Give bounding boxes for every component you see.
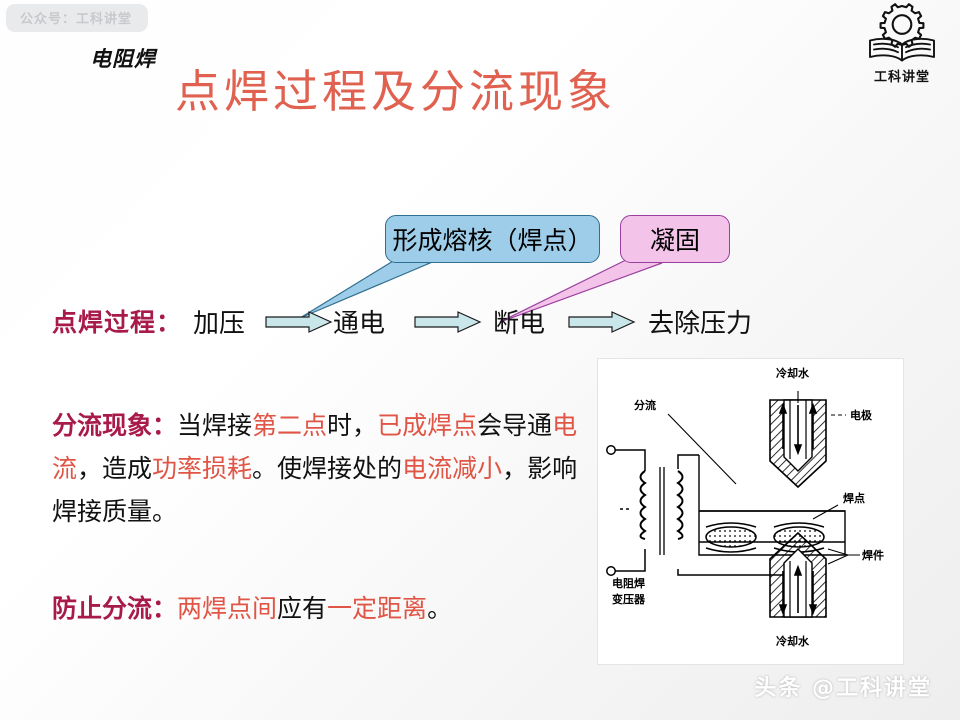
brand-logo-text: 工科讲堂 [874, 66, 930, 85]
flow-arrow-icon [265, 311, 333, 333]
callout-form-nugget: 形成熔核（焊点） [385, 215, 600, 263]
flow-arrow-icon [414, 311, 482, 333]
brand-logo: 工科讲堂 [856, 2, 948, 94]
paragraph-prevent-body: 两焊点间应有一定距离。 [177, 596, 452, 623]
text-run: 应有 [277, 596, 327, 623]
diagram-label-workpiece: 焊件 [862, 548, 884, 562]
slide-canvas: 公众号：工科讲堂 电阻焊 点焊过程及分流现象 工科讲堂 形成熔核（焊点） [0, 0, 960, 720]
process-step-release-pressure: 去除压力 [648, 303, 752, 340]
text-run: 第二点 [252, 413, 327, 440]
diagram-label-transformer-1: 电阻焊 [612, 576, 645, 590]
callout-nugget-label: 形成熔核（焊点） [392, 221, 592, 257]
text-run: 已成焊点 [377, 413, 477, 440]
watermark: 头条 @工科讲堂 [754, 670, 932, 702]
text-run: 电流减小 [402, 456, 502, 483]
process-step-apply-pressure: 加压 [193, 303, 245, 340]
welding-schematic-diagram: 冷却水 分流 电极 焊点 焊件 电阻焊 变压器 冷却水 [598, 359, 901, 662]
paragraph-prevent-shunt: 防止分流：两焊点间应有一定距离。 [52, 588, 552, 631]
text-run: 时， [327, 413, 377, 440]
process-step-power-off: 断电 [493, 303, 545, 340]
text-run: 会导通 [477, 413, 552, 440]
text-run: ，造成 [77, 456, 152, 483]
flow-arrow-icon [568, 311, 636, 333]
callout-solidify-label: 凝固 [650, 221, 700, 257]
text-run: 当焊接 [177, 413, 252, 440]
diagram-label-weld-spot: 焊点 [843, 491, 865, 505]
callout-solidify: 凝固 [620, 215, 730, 263]
paragraph-prevent-lead: 防止分流： [52, 596, 177, 623]
text-run: 。 [427, 596, 452, 623]
diagram-label-coolant-bottom: 冷却水 [776, 634, 810, 648]
page-title: 点焊过程及分流现象 [175, 55, 616, 120]
process-row-label: 点焊过程： [52, 303, 182, 339]
paragraph-shunt-lead: 分流现象： [52, 413, 177, 440]
text-run: 功率损耗 [152, 456, 252, 483]
process-step-power-on: 通电 [333, 303, 385, 340]
welding-schematic-panel: 冷却水 分流 电极 焊点 焊件 电阻焊 变压器 冷却水 [597, 358, 904, 665]
diagram-label-electrode: 电极 [850, 408, 873, 422]
gear-book-icon [865, 2, 939, 68]
text-run: 一定距离 [327, 596, 427, 623]
wechat-account-badge: 公众号：工科讲堂 [6, 4, 148, 32]
text-run: 。使焊接处的 [252, 456, 402, 483]
diagram-label-coolant-top: 冷却水 [776, 366, 810, 380]
diagram-label-shunt: 分流 [634, 398, 656, 412]
section-kicker: 电阻焊 [90, 43, 156, 73]
paragraph-shunt-phenomenon: 分流现象：当焊接第二点时，已成焊点会导通电流，造成功率损耗。使焊接处的电流减小，… [52, 405, 597, 534]
text-run: 两焊点间 [177, 596, 277, 623]
diagram-label-transformer-2: 变压器 [612, 592, 646, 606]
